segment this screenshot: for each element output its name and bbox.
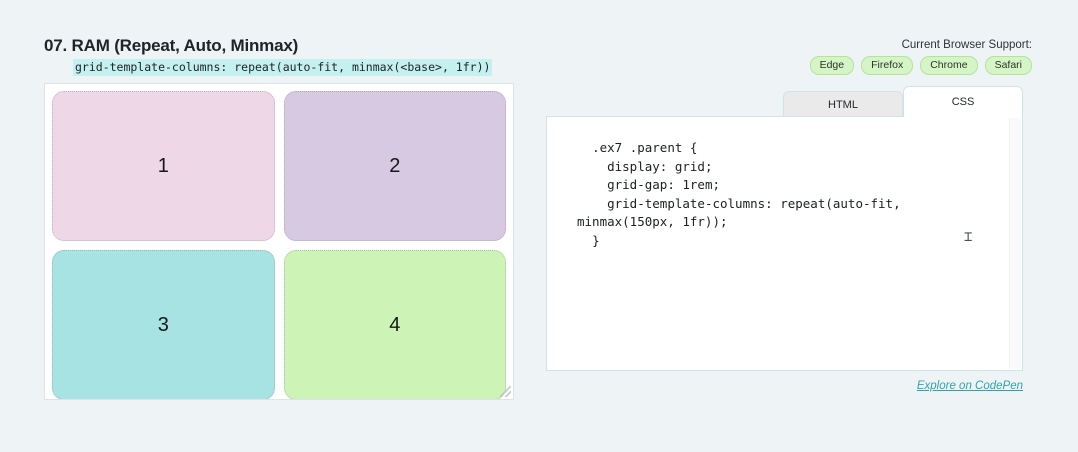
css-code-content[interactable]: .ex7 .parent { display: grid; grid-gap: … — [577, 139, 996, 250]
browser-badge-firefox: Firefox — [861, 56, 913, 75]
title-block: 07. RAM (Repeat, Auto, Minmax) grid-temp… — [44, 36, 492, 76]
browser-support-section: Current Browser Support: Edge Firefox Ch… — [810, 38, 1032, 75]
explore-on-codepen-link[interactable]: Explore on CodePen — [917, 380, 1023, 392]
grid-item-3: 3 — [52, 250, 275, 399]
tab-html-label: HTML — [828, 99, 858, 111]
grid-template-columns-snippet: grid-template-columns: repeat(auto-fit, … — [73, 59, 492, 76]
grid-item-2: 2 — [284, 91, 507, 241]
tab-css[interactable]: CSS — [903, 86, 1023, 117]
grid-item-3-label: 3 — [158, 314, 169, 337]
grid-demo-panel[interactable]: 1 2 3 4 — [45, 84, 513, 399]
grid-item-4-label: 4 — [389, 314, 400, 337]
code-tab-row: HTML CSS — [783, 86, 1023, 117]
tab-css-label: CSS — [952, 96, 975, 108]
grid-demo-container: 1 2 3 4 — [52, 91, 506, 393]
browser-badge-row: Edge Firefox Chrome Safari — [810, 56, 1032, 75]
browser-support-label: Current Browser Support: — [810, 38, 1032, 52]
browser-badge-safari: Safari — [985, 56, 1032, 75]
browser-badge-edge: Edge — [810, 56, 855, 75]
code-scrollbar[interactable] — [1009, 118, 1021, 369]
page-title: 07. RAM (Repeat, Auto, Minmax) — [44, 36, 492, 56]
grid-item-1-label: 1 — [158, 155, 169, 178]
tab-html[interactable]: HTML — [783, 91, 903, 117]
grid-item-1: 1 — [52, 91, 275, 241]
code-panel: HTML CSS .ex7 .parent { display: grid; g… — [546, 86, 1023, 399]
code-editor[interactable]: .ex7 .parent { display: grid; grid-gap: … — [546, 116, 1023, 371]
page-header: 07. RAM (Repeat, Auto, Minmax) grid-temp… — [0, 0, 1078, 84]
resize-grip-icon[interactable] — [500, 386, 511, 397]
grid-item-4: 4 — [284, 250, 507, 399]
browser-badge-chrome: Chrome — [920, 56, 977, 75]
grid-item-2-label: 2 — [389, 155, 400, 178]
